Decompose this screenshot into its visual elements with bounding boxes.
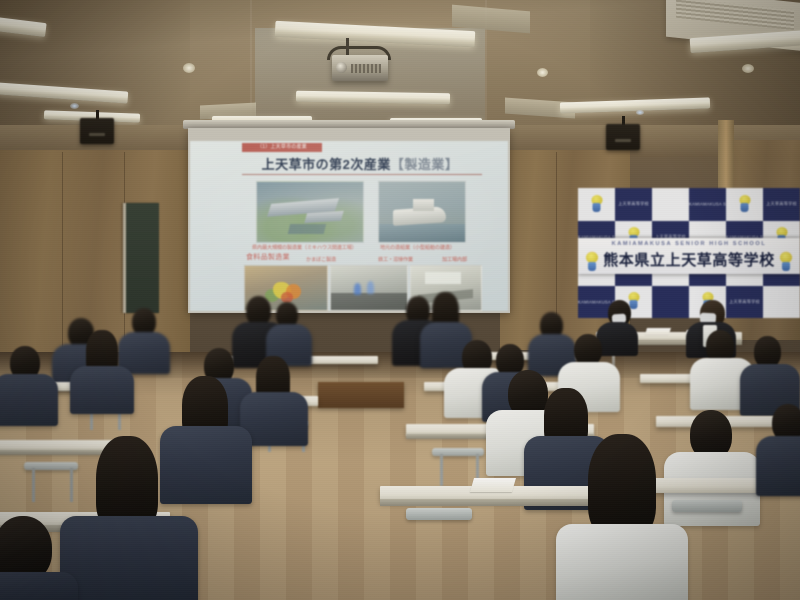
- banner-tile-label: KAMIAMAKUSA SENIOR HIGH SCHOOL: [578, 299, 615, 304]
- wall-seam: [62, 152, 63, 352]
- slide-section-label: 食料品製造業: [246, 255, 290, 261]
- slide-header-tab: （1）上天草市の産業: [242, 143, 322, 152]
- classroom-photo-scene: （1）上天草市の産業 上天草市の第2次産業【製造業】 県内最大規模の製造業（ミキ…: [0, 0, 800, 600]
- presentation-slide: （1）上天草市の産業 上天草市の第2次産業【製造業】 県内最大規模の製造業（ミキ…: [190, 141, 508, 311]
- boat-photo-caption: 地元の造船業（小型船舶の建造）: [380, 245, 455, 251]
- aerial-factory-photo: [256, 181, 364, 243]
- school-mascot-icon: [590, 195, 603, 213]
- slide-title: 上天草市の第2次産業【製造業】: [240, 154, 480, 173]
- aerial-photo-caption: 県内最大規模の製造業（ミキハウス関連工場）: [252, 245, 357, 251]
- handout-paper: [470, 478, 516, 492]
- person-torso: [596, 322, 638, 356]
- fabrication-photo: [330, 265, 408, 311]
- banner-tile: 上天草高等学校: [763, 188, 800, 221]
- banner-tile: 上天草高等学校: [615, 188, 652, 221]
- interior-photo-caption: 加工場内部: [442, 257, 467, 263]
- photo-shape: [354, 283, 362, 295]
- indicator-light: [636, 110, 644, 115]
- ceiling: [0, 0, 800, 132]
- banner-tile-label: 上天草高等学校: [615, 201, 652, 207]
- person-torso: [70, 366, 134, 414]
- desk-edge: [380, 499, 610, 506]
- recessed-downlight: [537, 68, 548, 77]
- school-banner: 上天草高等学校 KAMIAMAKUSA SENIOR HIGH SCHOOL 上…: [578, 188, 800, 318]
- chair-leg: [440, 454, 443, 486]
- wall-wood-panel-left: [0, 150, 190, 360]
- school-mascot-icon: [738, 195, 751, 213]
- document-on-table: [645, 328, 671, 335]
- chair-leg: [70, 468, 73, 502]
- boat-shipyard-photo: [378, 181, 466, 243]
- ceiling-projector: [332, 55, 388, 81]
- factory-yard: [288, 224, 326, 234]
- fabrication-photo-caption: 鉄工・溶接作業: [378, 257, 413, 263]
- projector-vents: [351, 64, 381, 73]
- factory-roof: [304, 211, 344, 224]
- person-torso: [60, 516, 198, 600]
- wooden-cabinet: [318, 382, 404, 408]
- banner-japanese-name: 熊本県立上天草高等学校: [578, 249, 800, 270]
- person-torso: [0, 374, 58, 426]
- chair: [406, 508, 472, 520]
- boat-cabin: [413, 199, 434, 211]
- wall-speaker-left: [80, 118, 114, 144]
- wall-pillar: [718, 120, 734, 190]
- person-torso: [756, 436, 800, 496]
- banner-tile: KAMIAMAKUSA SENIOR HIGH SCHOOL: [689, 188, 726, 221]
- person-torso: [160, 426, 252, 504]
- wall-speaker-right: [606, 124, 640, 150]
- banner-tile: [578, 188, 615, 221]
- workshop-photo-caption: かまぼこ製造: [306, 257, 336, 263]
- chair-leg: [32, 468, 35, 502]
- person-shirt: [556, 524, 688, 600]
- projector-lens: [336, 62, 347, 73]
- banner-tile: [652, 188, 689, 221]
- banner-tile: [763, 286, 800, 319]
- banner-tile: [652, 286, 689, 319]
- banner-tile-label: KAMIAMAKUSA SENIOR HIGH SCHOOL: [689, 202, 726, 207]
- slide-title-bracket: 【製造業】: [391, 157, 459, 172]
- recessed-downlight: [742, 64, 754, 73]
- banner-tile-label: 上天草高等学校: [726, 299, 763, 305]
- photo-shape: [331, 293, 407, 310]
- banner-name-strip: KAMIAMAKUSA SENIOR HIGH SCHOOL 熊本県立上天草高等…: [578, 238, 800, 274]
- slide-title-main: 上天草市の第2次産業: [262, 157, 391, 172]
- banner-english-name: KAMIAMAKUSA SENIOR HIGH SCHOOL: [578, 241, 800, 247]
- slide-divider: [242, 174, 482, 175]
- indicator-light: [70, 103, 79, 109]
- water: [379, 224, 465, 242]
- photo-shape: [425, 272, 461, 283]
- photo-shape: [367, 281, 374, 294]
- school-mascot-icon-right: [778, 252, 794, 272]
- person-torso: [0, 572, 78, 600]
- recessed-downlight: [183, 63, 195, 73]
- chair: [672, 500, 742, 512]
- banner-tile-label: 上天草高等学校: [763, 201, 800, 207]
- banner-tile: [726, 188, 763, 221]
- ac-grill: [676, 0, 794, 30]
- banner-tile: 上天草高等学校: [726, 286, 763, 319]
- green-chalkboard: [123, 203, 159, 313]
- person-hair: [588, 434, 656, 538]
